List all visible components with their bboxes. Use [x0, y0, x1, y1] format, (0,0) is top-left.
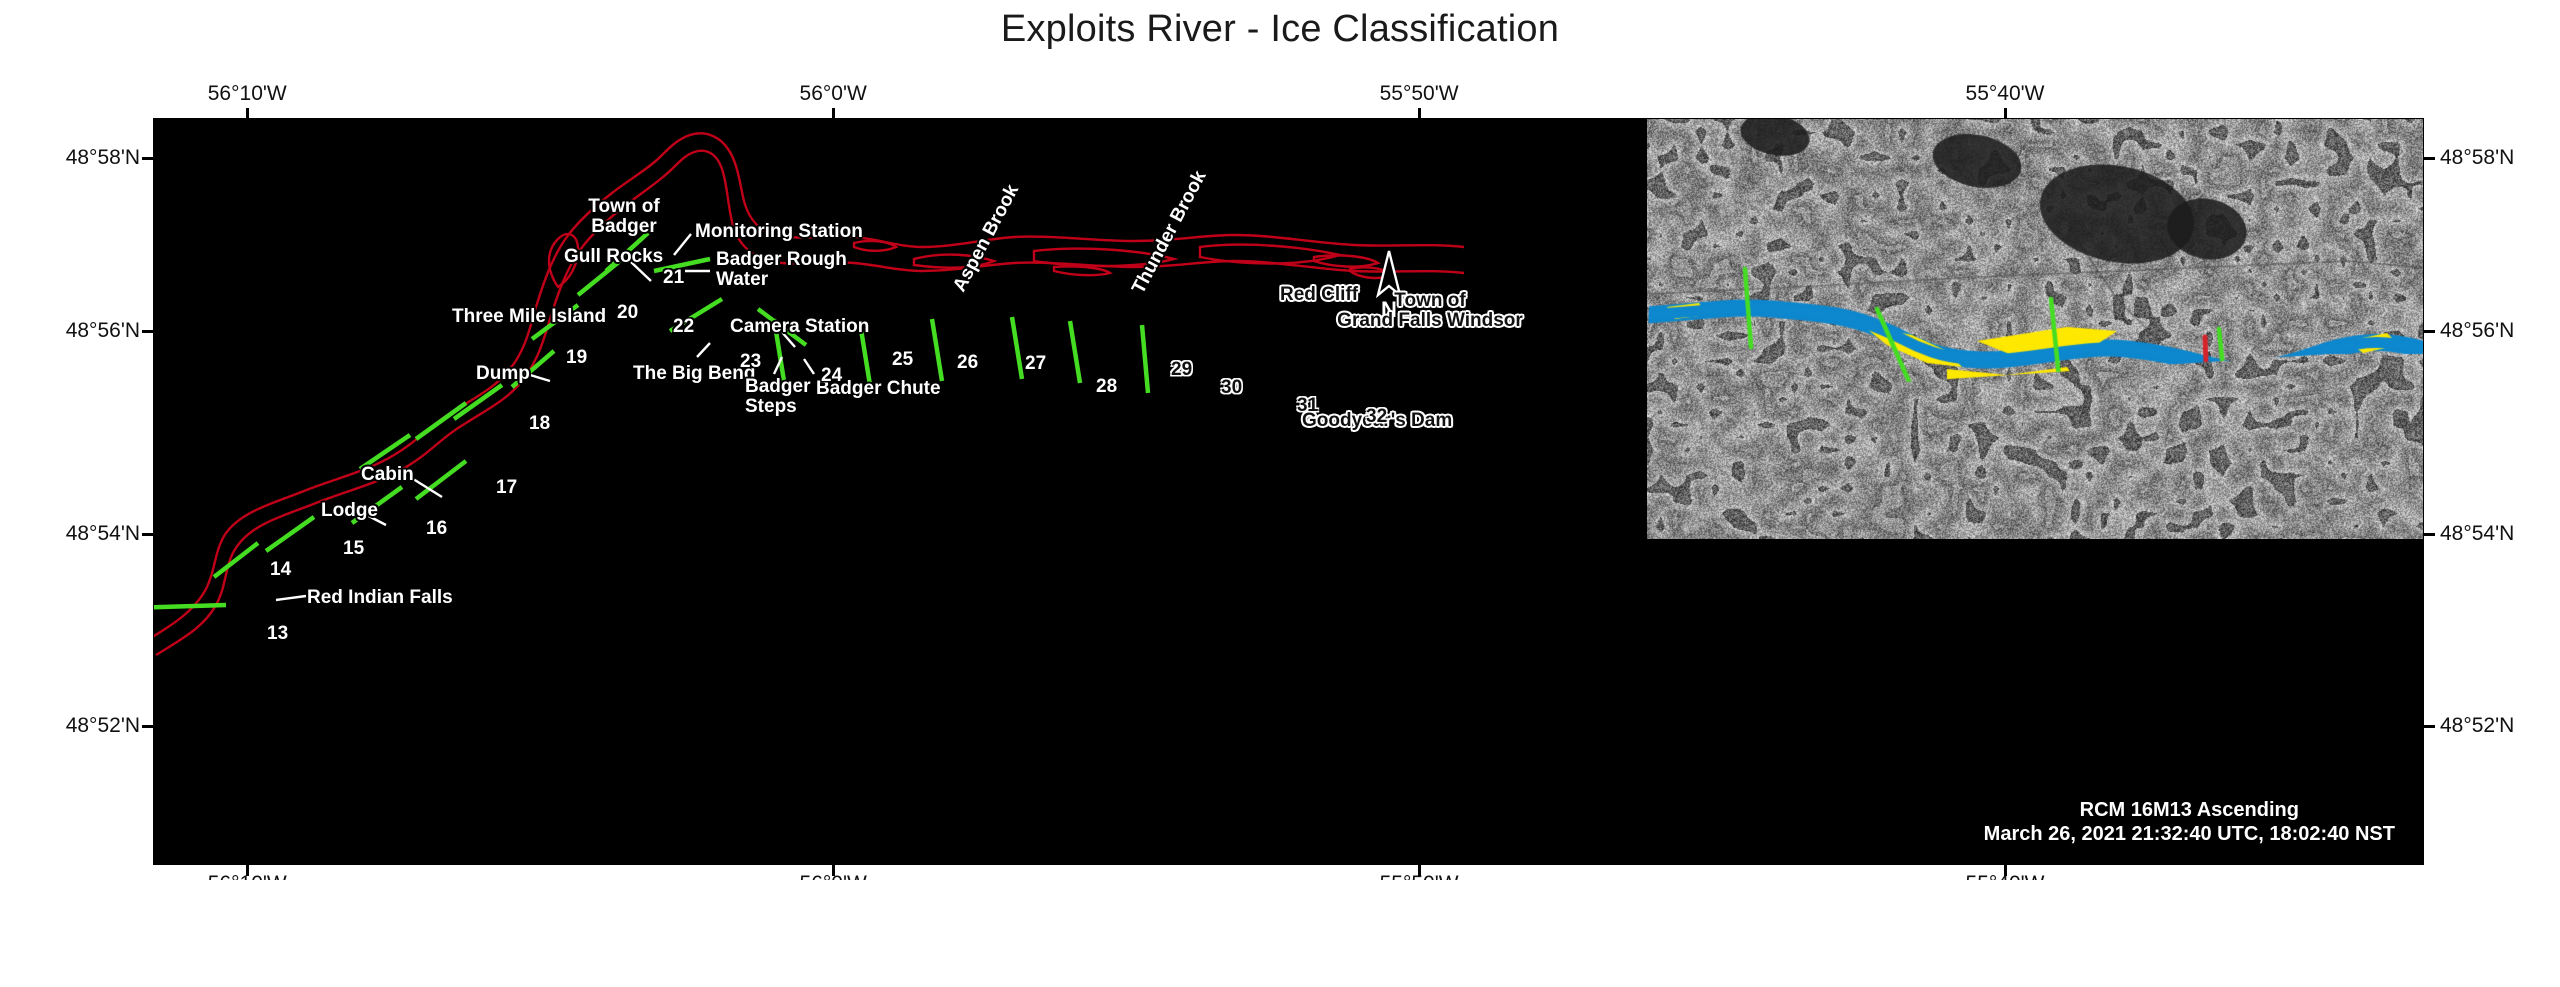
lat-label-right-1: 48°56'N — [2440, 319, 2514, 343]
label-leader-line — [697, 343, 710, 357]
transect-line — [532, 305, 578, 339]
lat-label-left-3: 48°52'N — [20, 714, 140, 738]
transect-line — [932, 319, 942, 381]
river-bank — [1054, 266, 1110, 275]
transect-line — [416, 461, 466, 499]
river-bank — [156, 151, 1464, 655]
transect-line — [654, 259, 710, 271]
river-network — [154, 119, 2424, 865]
label-leader-line — [359, 511, 386, 525]
lat-tick-left-0 — [142, 157, 153, 160]
lon-label-top-3: 55°40'W — [1966, 82, 2045, 106]
lat-tick-right-0 — [2424, 157, 2435, 160]
lon-label-top-2: 55°50'W — [1380, 82, 1459, 106]
page-title: Exploits River - Ice Classification — [0, 8, 2560, 51]
map-canvas[interactable]: N Town ofBadgerMonitoring StationGull Ro… — [153, 118, 2424, 865]
river-bank — [1034, 249, 1174, 266]
north-arrow-label: N — [1369, 297, 1409, 323]
lat-tick-left-1 — [142, 330, 153, 333]
acquisition-caption: RCM 16M13 Ascending March 26, 2021 21:32… — [1984, 798, 2395, 846]
transect-line — [266, 517, 314, 551]
transect-line — [1070, 321, 1080, 383]
lat-label-right-3: 48°52'N — [2440, 714, 2514, 738]
north-arrow-icon: N — [1369, 249, 1409, 329]
lat-label-right-2: 48°54'N — [2440, 522, 2514, 546]
lat-tick-left-3 — [142, 725, 153, 728]
acquisition-line-1: RCM 16M13 Ascending — [1984, 798, 2395, 822]
transect-line — [360, 435, 410, 469]
lat-label-left-1: 48°56'N — [20, 319, 140, 343]
lon-tick-bottom-1 — [832, 865, 835, 876]
lat-label-right-0: 48°58'N — [2440, 146, 2514, 170]
transect-line — [1012, 317, 1022, 379]
label-leader-line — [276, 596, 306, 600]
label-leader-line — [674, 234, 691, 255]
lat-tick-right-3 — [2424, 725, 2435, 728]
transect-line — [416, 403, 466, 439]
river-bank — [914, 255, 994, 268]
lon-tick-bottom-3 — [2004, 865, 2007, 876]
transect-line — [670, 299, 722, 331]
transect-line — [352, 487, 402, 523]
transect-line — [1142, 325, 1148, 393]
lat-label-left-0: 48°58'N — [20, 146, 140, 170]
river-bank — [154, 133, 1464, 639]
lon-label-top-1: 56°0'W — [800, 82, 867, 106]
transect-line — [860, 323, 870, 385]
transect-line — [454, 385, 502, 419]
lat-label-left-2: 48°54'N — [20, 522, 140, 546]
label-leader-line — [804, 359, 814, 374]
river-bank — [1200, 245, 1340, 264]
acquisition-line-2: March 26, 2021 21:32:40 UTC, 18:02:40 NS… — [1984, 822, 2395, 846]
lat-tick-left-2 — [142, 533, 153, 536]
map-page: Exploits River - Ice Classification 56°1… — [0, 0, 2560, 987]
transect-line — [606, 233, 648, 271]
lon-label-top-0: 56°10'W — [208, 82, 287, 106]
footer-bar: c·core Newfoundland Labrador Water or po… — [0, 880, 2560, 987]
label-leader-line — [631, 262, 651, 281]
lon-tick-bottom-2 — [1418, 865, 1421, 876]
lat-tick-right-1 — [2424, 330, 2435, 333]
lon-tick-bottom-0 — [246, 865, 249, 876]
transect-line — [758, 309, 806, 345]
lat-tick-right-2 — [2424, 533, 2435, 536]
